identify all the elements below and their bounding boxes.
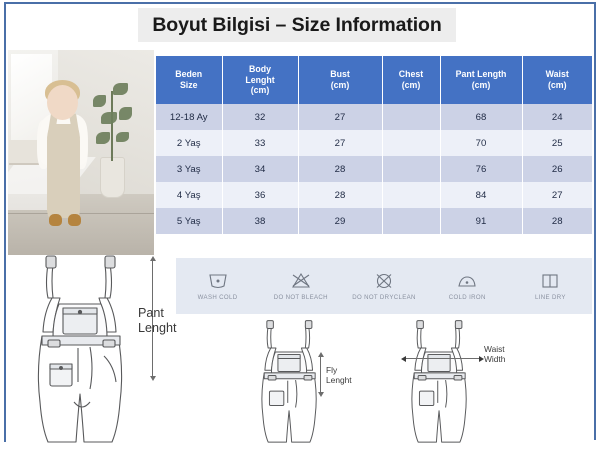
size-table-container: Beden Size Body Lenght (cm) Bust (cm) Ch…	[156, 56, 592, 234]
column-header-waist: Waist (cm)	[522, 56, 592, 104]
table-header-row: Beden Size Body Lenght (cm) Bust (cm) Ch…	[156, 56, 592, 104]
cell-size: 5 Yaş	[156, 208, 222, 234]
cell-waist: 26	[522, 156, 592, 182]
technical-drawing-overalls-front-waist	[398, 318, 484, 450]
cell-size: 2 Yaş	[156, 130, 222, 156]
cell-waist: 27	[522, 182, 592, 208]
cell-waist: 28	[522, 208, 592, 234]
cell-chest	[382, 182, 440, 208]
cell-chest	[382, 208, 440, 234]
cell-chest	[382, 130, 440, 156]
wash-cold-icon	[207, 272, 229, 290]
waist-width-annotation: Waist Width	[484, 345, 505, 365]
column-header-beden-size: Beden Size	[156, 56, 222, 104]
pant-length-annotation: Pant Lenght	[138, 306, 177, 336]
cell-waist: 24	[522, 104, 592, 130]
cell-size: 3 Yaş	[156, 156, 222, 182]
cell-size: 12-18 Ay	[156, 104, 222, 130]
fly-length-label-line2: Lenght	[326, 376, 352, 386]
cell-bust: 28	[298, 182, 382, 208]
care-item-cold-iron: COLD IRON	[426, 272, 509, 301]
care-label: WASH COLD	[198, 294, 238, 301]
column-header-pant-length: Pant Length (cm)	[440, 56, 522, 104]
table-row: 4 Yaş 36 28 84 27	[156, 182, 592, 208]
page-title-band: Boyut Bilgisi – Size Information	[138, 8, 456, 42]
frame-border-top	[4, 2, 596, 4]
pant-length-label-line2: Lenght	[138, 321, 177, 336]
photo-leaf	[113, 83, 128, 95]
cell-body-length: 33	[222, 130, 298, 156]
photo-baby-shoe-left	[49, 214, 62, 226]
cell-pant-length: 76	[440, 156, 522, 182]
size-chart-page: Boyut Bilgisi – Size Information	[0, 0, 600, 450]
table-row: 2 Yaş 33 27 70 25	[156, 130, 592, 156]
frame-border-left	[4, 2, 6, 442]
cell-chest	[382, 104, 440, 130]
column-header-body-length: Body Lenght (cm)	[222, 56, 298, 104]
photo-baby-face	[47, 85, 78, 120]
care-instructions-band: WASH COLD DO NOT BLEACH DO NOT DRYCL	[176, 258, 592, 314]
table-row: 5 Yaş 38 29 91 28	[156, 208, 592, 234]
care-item-line-dry: LINE DRY	[509, 272, 592, 301]
cold-iron-icon	[456, 272, 478, 290]
do-not-bleach-icon	[290, 272, 312, 290]
cell-size: 4 Yaş	[156, 182, 222, 208]
care-label: DO NOT BLEACH	[274, 294, 328, 301]
cell-waist: 25	[522, 130, 592, 156]
size-table-body: 12-18 Ay 32 27 68 24 2 Yaş 33 27 70 25 3…	[156, 104, 592, 234]
cell-bust: 28	[298, 156, 382, 182]
cell-body-length: 38	[222, 208, 298, 234]
waist-width-label-line2: Width	[484, 355, 505, 365]
cell-body-length: 36	[222, 182, 298, 208]
care-label: DO NOT DRYCLEAN	[352, 294, 416, 301]
product-photo	[8, 50, 154, 255]
photo-plant-stem	[111, 91, 113, 161]
pant-length-label-line1: Pant	[138, 306, 177, 321]
fly-length-dimension-line	[320, 356, 321, 394]
cell-bust: 29	[298, 208, 382, 234]
pant-length-arrow-top	[150, 256, 156, 261]
cell-body-length: 32	[222, 104, 298, 130]
photo-baby-shoe-right	[68, 214, 81, 226]
care-item-do-not-bleach: DO NOT BLEACH	[259, 272, 342, 301]
cell-bust: 27	[298, 130, 382, 156]
care-item-do-not-dryclean: DO NOT DRYCLEAN	[342, 272, 425, 301]
cell-pant-length: 68	[440, 104, 522, 130]
frame-border-right	[594, 2, 596, 440]
cell-chest	[382, 156, 440, 182]
page-title: Boyut Bilgisi – Size Information	[152, 14, 441, 37]
cell-bust: 27	[298, 104, 382, 130]
fly-length-arrow-bottom	[318, 392, 324, 397]
technical-drawing-overalls-front-large	[18, 252, 148, 450]
table-row: 12-18 Ay 32 27 68 24	[156, 104, 592, 130]
line-dry-icon	[539, 272, 561, 290]
waist-width-dimension-line	[404, 358, 482, 359]
care-item-wash-cold: WASH COLD	[176, 272, 259, 301]
care-label: COLD IRON	[449, 294, 486, 301]
fly-length-annotation: Fly Lenght	[326, 366, 352, 386]
care-label: LINE DRY	[535, 294, 566, 301]
fly-length-arrow-top	[318, 352, 324, 357]
table-row: 3 Yaş 34 28 76 26	[156, 156, 592, 182]
size-table: Beden Size Body Lenght (cm) Bust (cm) Ch…	[156, 56, 592, 234]
column-header-bust: Bust (cm)	[298, 56, 382, 104]
do-not-dryclean-icon	[373, 272, 395, 290]
cell-pant-length: 70	[440, 130, 522, 156]
photo-plant-pot	[100, 157, 125, 198]
pant-length-arrow-bottom	[150, 376, 156, 381]
cell-pant-length: 91	[440, 208, 522, 234]
cell-body-length: 34	[222, 156, 298, 182]
cell-pant-length: 84	[440, 182, 522, 208]
technical-drawing-overalls-front-fly	[248, 318, 334, 450]
photo-leaf	[119, 107, 132, 119]
column-header-chest: Chest (cm)	[382, 56, 440, 104]
size-table-head: Beden Size Body Lenght (cm) Bust (cm) Ch…	[156, 56, 592, 104]
waist-width-arrow-left	[401, 356, 406, 362]
